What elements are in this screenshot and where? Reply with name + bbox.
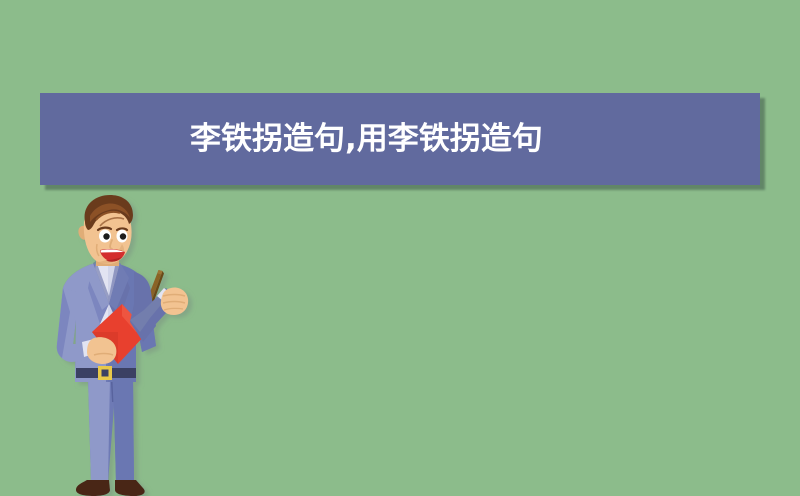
shoes bbox=[76, 480, 145, 496]
illustration-svg bbox=[30, 192, 210, 496]
page-canvas: 李铁拐造句,用李铁拐造句 bbox=[0, 0, 800, 496]
page-title: 李铁拐造句,用李铁拐造句 bbox=[40, 93, 760, 185]
belt bbox=[76, 366, 136, 380]
teacher-businessman-illustration bbox=[30, 192, 210, 496]
trousers bbox=[88, 374, 134, 483]
figure-group bbox=[57, 195, 188, 496]
title-banner: 李铁拐造句,用李铁拐造句 bbox=[40, 93, 760, 185]
head bbox=[78, 195, 133, 264]
